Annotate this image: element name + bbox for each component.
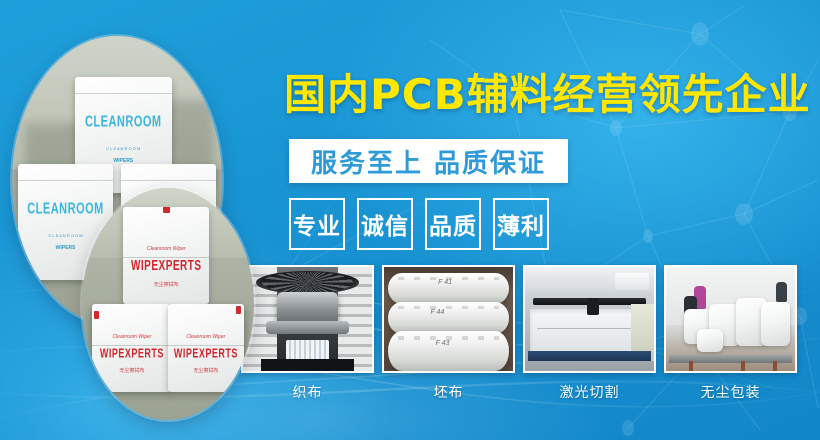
pack-subline-2: 无尘擦拭布 [168,367,244,374]
feature-tag-list: 专业 诚信 品质 薄利 [289,198,549,250]
feature-tag-quality[interactable]: 品质 [425,198,481,250]
pack-wipexperts-right: Cleanroom Wiper WIPEXPERTS 无尘擦拭布 [168,304,244,392]
pack-brand-label: CLEANROOM [75,113,172,130]
pack-wipexperts-left: Cleanroom Wiper WIPEXPERTS 无尘擦拭布 [92,304,171,392]
thumbnail-weaving[interactable]: 织布 [241,265,374,402]
thumbnail-image-cleanroom-packing[interactable] [664,265,797,373]
pack-subline-2: WIPERS [75,158,172,164]
thumbnail-caption: 坯布 [382,382,515,402]
pack-subline-2: 无尘擦拭布 [123,281,209,288]
thumbnail-image-laser-cutting[interactable] [523,265,656,373]
pack-subline-1: Cleanroom Wiper [92,334,171,340]
banner-headline: 国内PCB辅料经营领先企业 [284,74,811,116]
pack-wipexperts-top: Cleanroom Wiper WIPEXPERTS 无尘擦拭布 [123,207,209,304]
thumbnail-caption: 无尘包装 [664,382,797,402]
pack-subline-1: Cleanroom Wiper [123,246,209,252]
product-photo-wipexperts: Cleanroom Wiper WIPEXPERTS 无尘擦拭布 Cleanro… [82,188,254,420]
pack-subline-2: 无尘擦拭布 [92,367,171,374]
thumbnail-image-weaving[interactable] [241,265,374,373]
feature-tag-integrity[interactable]: 诚信 [357,198,413,250]
banner-subtitle-text: 服务至上 品质保证 [311,143,546,180]
pack-brand-label: WIPEXPERTS [92,346,171,361]
thumbnail-greige-fabric[interactable]: F 41 F 44 F 43 坯布 [382,265,515,402]
pack-subline-1: C L E A N R O O M [75,146,172,151]
feature-tag-low-margin[interactable]: 薄利 [493,198,549,250]
process-thumbnail-strip: 织布 F 41 F 44 F 43 坯布 [241,265,797,402]
pack-subline-1: Cleanroom Wiper [168,334,244,340]
thumbnail-image-greige-fabric[interactable]: F 41 F 44 F 43 [382,265,515,373]
thumbnail-caption: 激光切割 [523,382,656,402]
feature-tag-professional[interactable]: 专业 [289,198,345,250]
promo-banner: CLEANROOM C L E A N R O O M WIPERS CLEAN… [0,0,820,440]
thumbnail-laser-cutting[interactable]: 激光切割 [523,265,656,402]
thumbnail-cleanroom-packing[interactable]: 无尘包装 [664,265,797,402]
pack-brand-label: WIPEXPERTS [123,259,209,275]
banner-subtitle-bar: 服务至上 品质保证 [289,139,568,183]
pack-brand-label: WIPEXPERTS [168,346,244,361]
thumbnail-caption: 织布 [241,382,374,402]
